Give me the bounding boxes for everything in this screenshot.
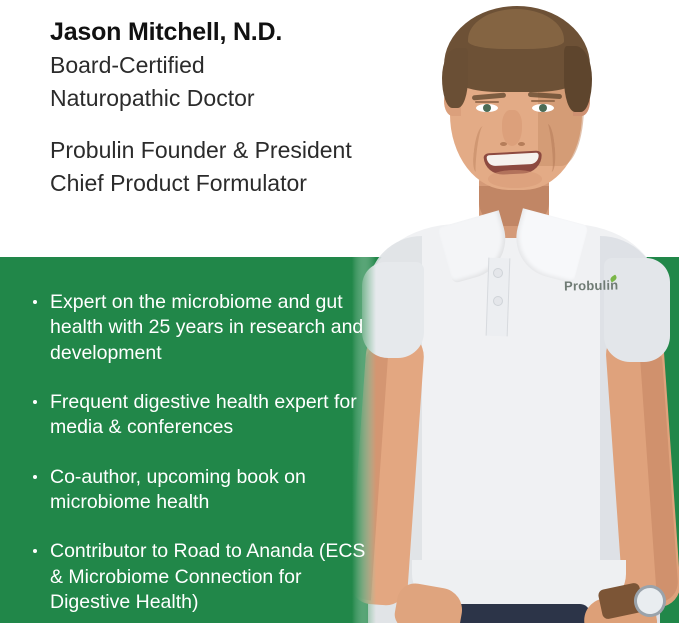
bullet-dot-icon <box>33 400 37 404</box>
person-photo: Probulin <box>352 0 679 623</box>
right-iris <box>539 104 547 112</box>
probulin-chest-logo: Probulin <box>564 278 619 294</box>
left-nostril <box>500 142 507 146</box>
list-item-text: Contributor to Road to Ananda (ECS & Mic… <box>50 540 365 613</box>
right-eye <box>532 104 554 112</box>
list-item: Co-author, upcoming book on microbiome h… <box>30 465 370 516</box>
list-item: Contributor to Road to Ananda (ECS & Mic… <box>30 539 370 615</box>
teeth <box>487 153 540 167</box>
right-sleeve <box>604 258 670 362</box>
bullet-dot-icon <box>33 300 37 304</box>
person-illustration: Probulin <box>352 0 679 623</box>
bullet-dot-icon <box>33 549 37 553</box>
right-eyelid <box>531 100 555 102</box>
credentials-list: Expert on the microbiome and gut health … <box>30 290 370 615</box>
left-eye <box>476 104 498 112</box>
list-item-text: Expert on the microbiome and gut health … <box>50 291 363 364</box>
hair-side-left <box>442 48 468 108</box>
waistband <box>440 604 590 623</box>
left-iris <box>483 104 491 112</box>
right-nostril <box>518 142 525 146</box>
list-item: Expert on the microbiome and gut health … <box>30 290 370 366</box>
left-eyelid <box>475 101 499 103</box>
nose <box>502 110 522 146</box>
bullet-dot-icon <box>33 475 37 479</box>
shirt-button-top <box>493 268 503 278</box>
list-item-text: Co-author, upcoming book on microbiome h… <box>50 466 306 513</box>
list-item-text: Frequent digestive health expert for med… <box>50 391 357 438</box>
doctor-profile-card: Jason Mitchell, N.D. Board-Certified Nat… <box>0 0 679 623</box>
chin <box>488 170 542 188</box>
shirt-button-bottom <box>493 296 503 306</box>
list-item: Frequent digestive health expert for med… <box>30 390 370 441</box>
